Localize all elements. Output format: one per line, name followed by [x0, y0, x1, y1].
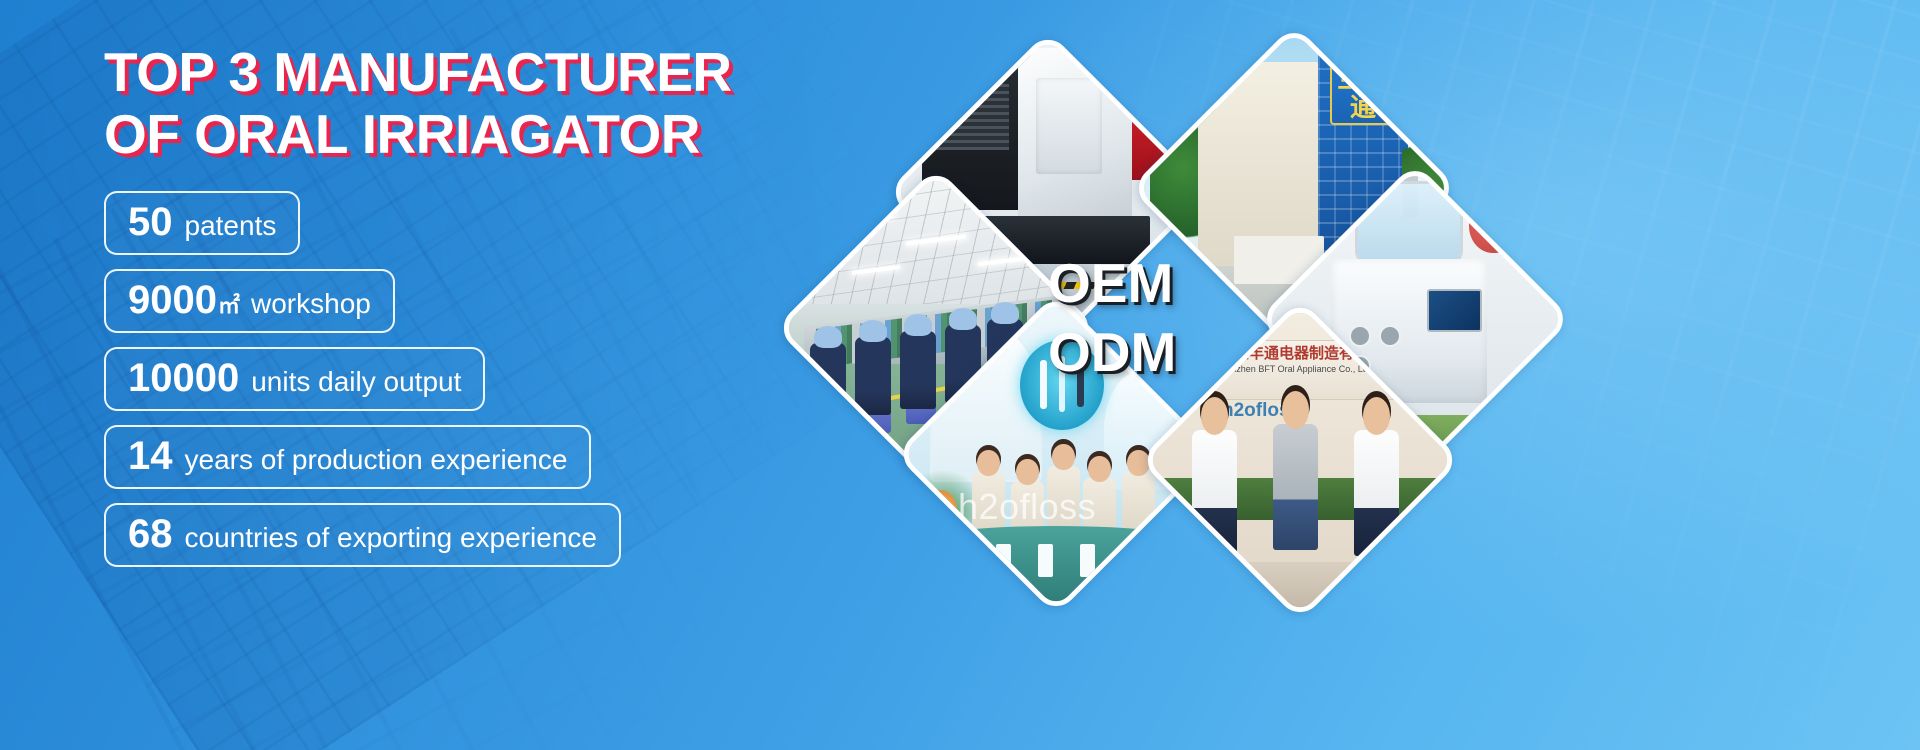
- stat-label: countries of exporting experience: [185, 524, 597, 552]
- h2ofloss-watermark: h2ofloss: [958, 486, 1096, 528]
- stat-item-patents: 50 patents: [104, 191, 300, 255]
- stat-number: 10000: [128, 358, 239, 398]
- stat-number: 50: [128, 202, 173, 242]
- photo-collage: 宝丰通: [830, 0, 1920, 750]
- stats-list: 50 patents 9000 ㎡ workshop 10000 units d…: [104, 191, 804, 581]
- stat-item-workshop: 9000 ㎡ workshop: [104, 269, 395, 333]
- title-line-1: TOP 3 MANUFACTURER: [104, 42, 804, 104]
- service-tags: OEM ODM: [1048, 256, 1176, 380]
- stat-label: patents: [185, 212, 277, 240]
- promo-banner: TOP 3 MANUFACTURER OF ORAL IRRIAGATOR 50…: [0, 0, 1920, 750]
- stat-item-export-countries: 68 countries of exporting experience: [104, 503, 621, 567]
- odm-label: ODM: [1048, 325, 1176, 380]
- stat-item-experience-years: 14 years of production experience: [104, 425, 591, 489]
- stat-unit: ㎡: [218, 295, 240, 317]
- page-title: TOP 3 MANUFACTURER OF ORAL IRRIAGATOR: [104, 42, 804, 165]
- oem-label: OEM: [1048, 256, 1176, 311]
- stat-label: years of production experience: [185, 446, 568, 474]
- building-sign-text: 宝丰通: [1330, 59, 1396, 125]
- stat-number: 14: [128, 436, 173, 476]
- title-line-2: OF ORAL IRRIAGATOR: [104, 104, 804, 166]
- stat-number: 68: [128, 514, 173, 554]
- stat-item-daily-output: 10000 units daily output: [104, 347, 485, 411]
- left-content: TOP 3 MANUFACTURER OF ORAL IRRIAGATOR 50…: [104, 42, 804, 581]
- stat-label: workshop: [251, 290, 371, 318]
- stat-label: units daily output: [251, 368, 461, 396]
- stat-number: 9000: [128, 280, 217, 320]
